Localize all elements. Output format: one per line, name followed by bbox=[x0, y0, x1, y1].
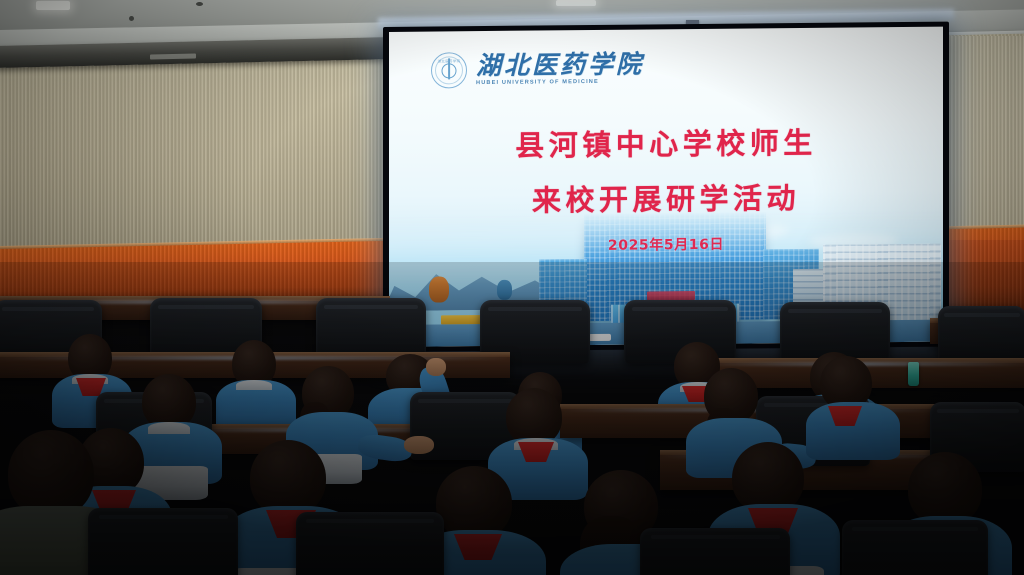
ceiling-sprinkler-1 bbox=[129, 16, 134, 21]
lecture-hall-scene: 湖北医药学院 湖北医药学院 HUBEI UNIVERSITY OF MEDICI… bbox=[0, 0, 1024, 575]
chair-near-2[interactable] bbox=[296, 512, 444, 575]
photo-car-1 bbox=[589, 334, 611, 341]
photo-tree-1 bbox=[429, 276, 449, 302]
hand bbox=[426, 358, 446, 376]
head bbox=[250, 440, 326, 516]
logo-english-name: HUBEI UNIVERSITY OF MEDICINE bbox=[476, 80, 644, 87]
water-bottle[interactable] bbox=[908, 362, 919, 386]
head bbox=[436, 466, 512, 540]
photo-tree-2 bbox=[497, 280, 512, 300]
presentation-slide: 湖北医药学院 湖北医药学院 HUBEI UNIVERSITY OF MEDICI… bbox=[389, 27, 943, 347]
chair-near-3[interactable] bbox=[640, 528, 790, 575]
slide-title-line-1: 县河镇中心学校师生 bbox=[389, 119, 943, 166]
chair-near-1[interactable] bbox=[88, 508, 238, 575]
ceiling-sprinkler-2 bbox=[196, 2, 203, 6]
head bbox=[8, 430, 94, 518]
hands-clasped bbox=[404, 436, 434, 454]
emblem-inner-text: 湖北医药学院 bbox=[432, 58, 466, 63]
logo-chinese-name: 湖北医药学院 bbox=[476, 52, 644, 79]
collar bbox=[236, 380, 272, 390]
logo-wordmark: 湖北医药学院 HUBEI UNIVERSITY OF MEDICINE bbox=[476, 52, 644, 87]
university-emblem-icon: 湖北医药学院 bbox=[431, 52, 467, 88]
university-logo: 湖北医药学院 湖北医药学院 HUBEI UNIVERSITY OF MEDICI… bbox=[431, 50, 644, 88]
ceiling-light-2 bbox=[556, 0, 596, 6]
collar bbox=[148, 422, 190, 434]
chair-near-4[interactable] bbox=[842, 520, 988, 575]
head bbox=[908, 452, 982, 526]
ceiling-light-1 bbox=[36, 1, 70, 10]
housing-label-strip bbox=[150, 53, 196, 59]
